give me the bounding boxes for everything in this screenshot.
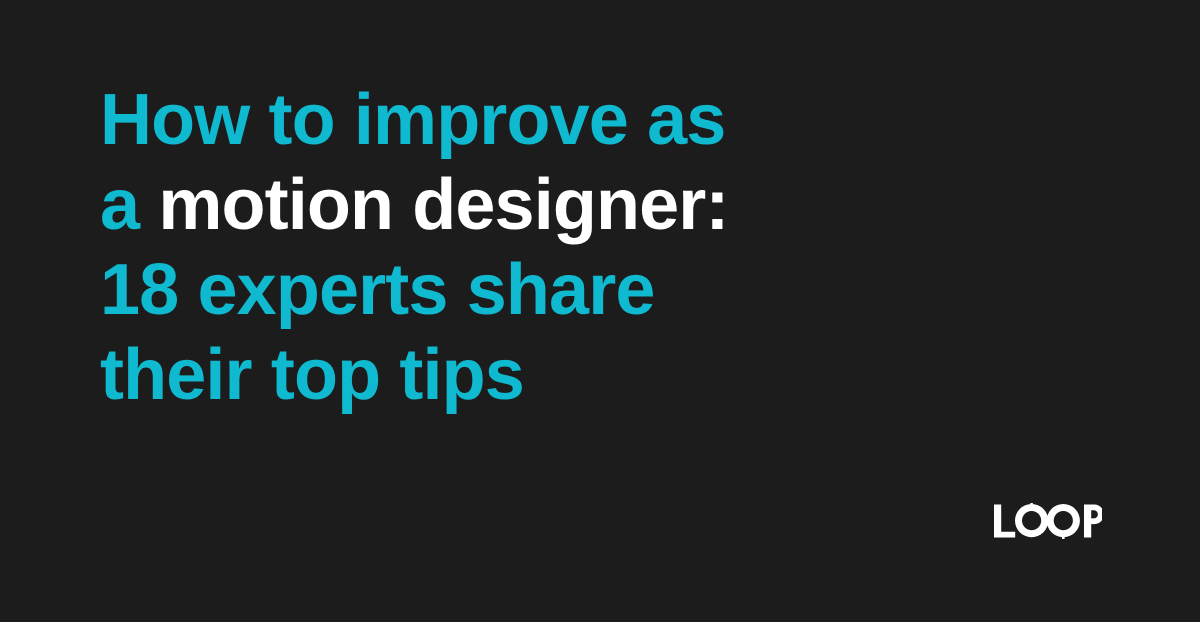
headline-line-1: How to improve as bbox=[100, 78, 860, 163]
headline-line-3: 18 experts share bbox=[100, 248, 860, 333]
headline-line-2: a motion designer: bbox=[100, 163, 860, 248]
headline-line-2-plain-text: motion designer: bbox=[139, 165, 728, 245]
headline-line-2-accent-text: a bbox=[100, 165, 139, 245]
headline-line-4: their top tips bbox=[100, 333, 860, 418]
headline-line-4-text: their top tips bbox=[100, 335, 524, 415]
headline-line-3-text: 18 experts share bbox=[100, 250, 655, 330]
loop-logo: LOOP bbox=[994, 503, 1102, 539]
headline-line-1-text: How to improve as bbox=[100, 80, 725, 160]
page-title: How to improve as a motion designer: 18 … bbox=[100, 78, 860, 418]
cover-canvas: How to improve as a motion designer: 18 … bbox=[0, 0, 1200, 622]
